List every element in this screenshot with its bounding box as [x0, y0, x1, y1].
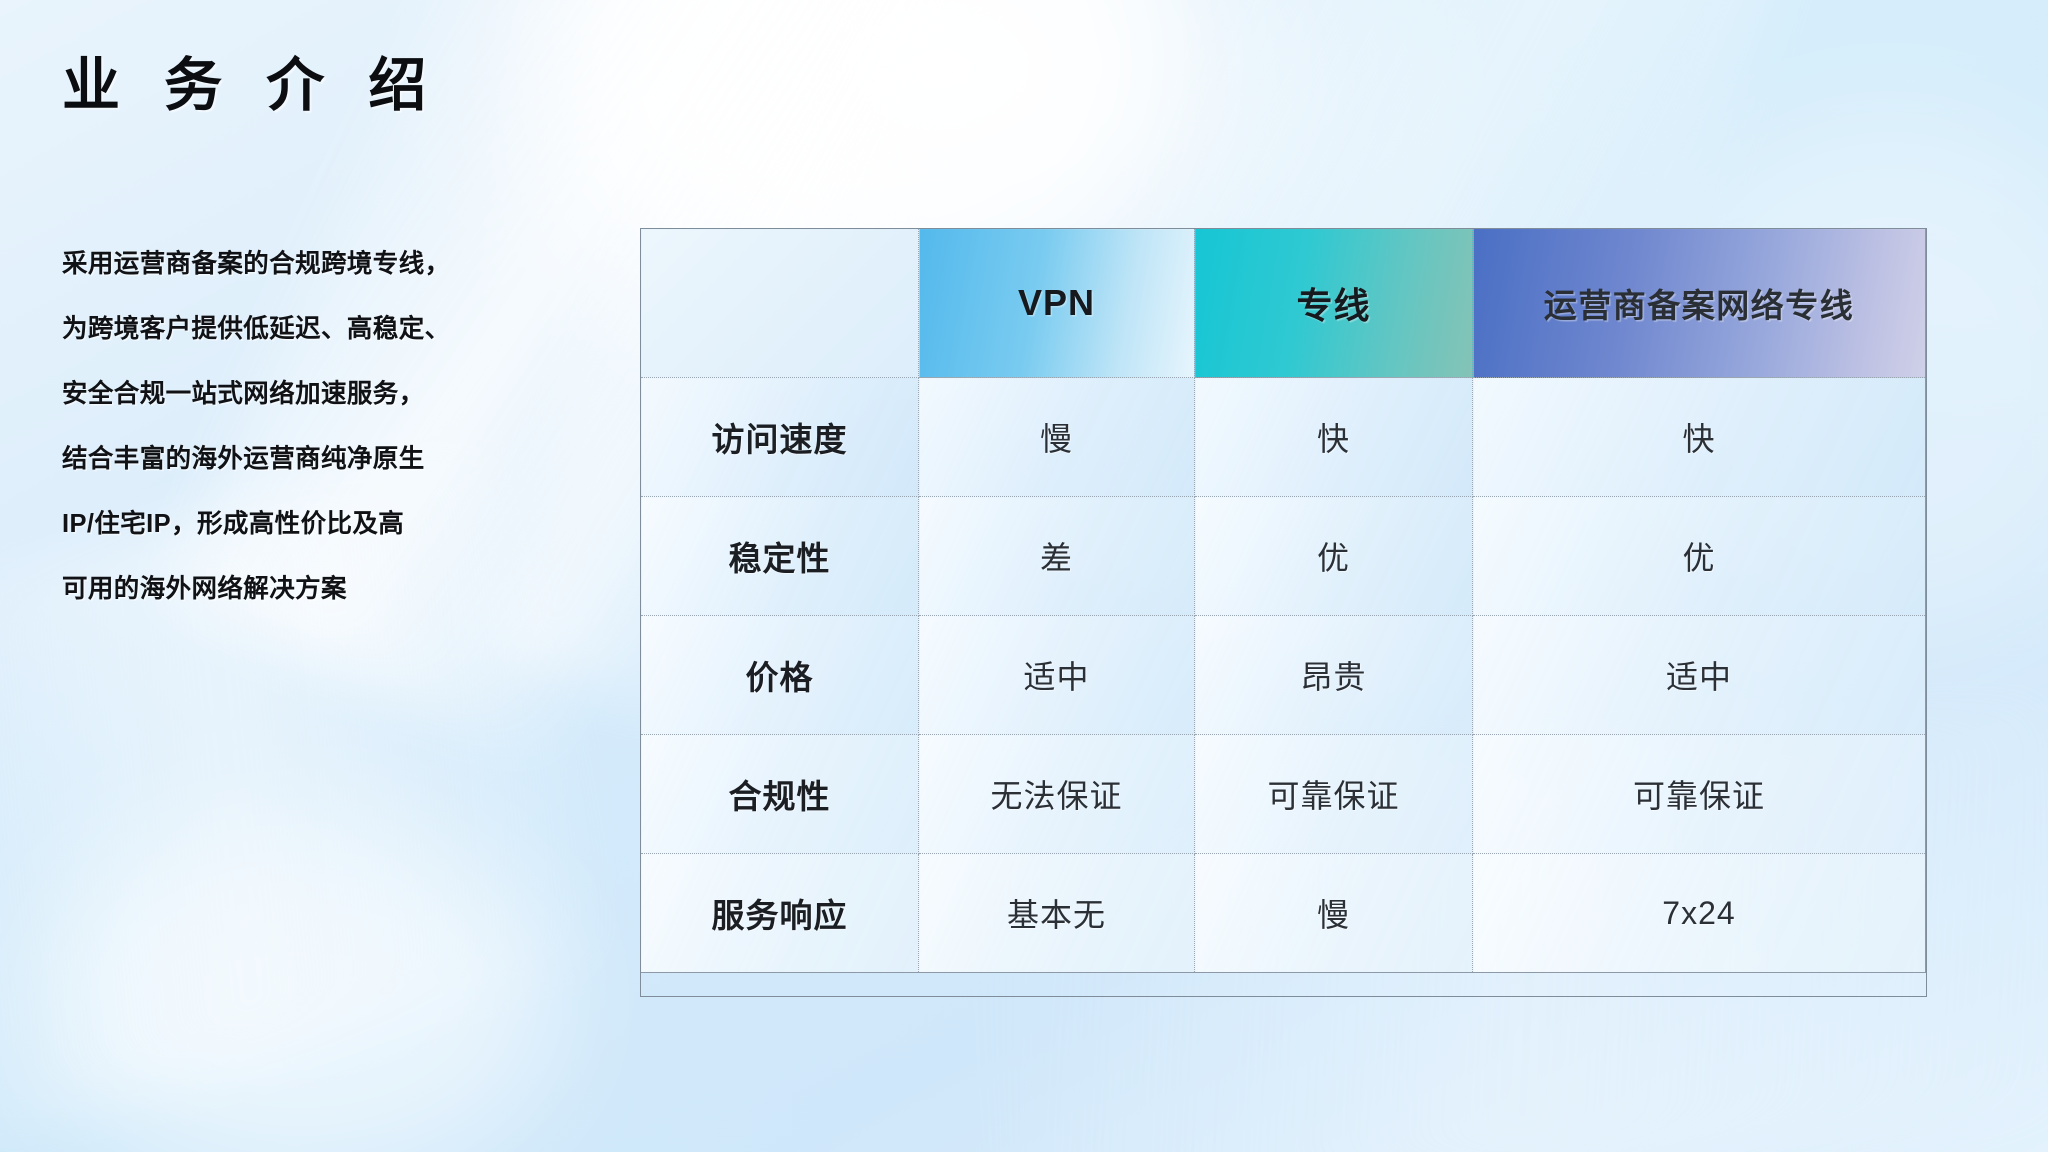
row-value: 可靠保证	[1633, 778, 1765, 814]
row-value-cell-carrier-line: 快	[1473, 378, 1926, 497]
intro-line: 可用的海外网络解决方案	[62, 557, 662, 622]
table-row: 合规性 无法保证 可靠保证 可靠保证	[641, 735, 1926, 854]
row-value-cell-vpn: 无法保证	[919, 735, 1195, 854]
row-value: 慢	[1317, 897, 1350, 933]
intro-line: 结合丰富的海外运营商纯净原生	[62, 427, 662, 492]
table-header-cell-blank	[641, 229, 919, 378]
row-value-cell-dedicated-line: 优	[1195, 497, 1473, 616]
slide-canvas: 业 务 介 绍 采用运营商备案的合规跨境专线， 为跨境客户提供低延迟、高稳定、 …	[0, 0, 2048, 1152]
row-value-cell-dedicated-line: 快	[1195, 378, 1473, 497]
row-value: 昂贵	[1300, 659, 1366, 695]
background-glow	[40, 820, 560, 1152]
row-value: 优	[1682, 540, 1715, 576]
table-header-label-dedicated-line: 专线	[1296, 285, 1370, 326]
intro-line: 安全合规一站式网络加速服务，	[62, 362, 662, 427]
row-value: 7x24	[1662, 895, 1735, 931]
intro-line: 采用运营商备案的合规跨境专线，	[62, 232, 662, 297]
row-label: 价格	[746, 659, 814, 696]
table-header-cell-vpn: VPN	[919, 229, 1195, 378]
row-value: 可靠保证	[1267, 778, 1399, 814]
row-value-cell-carrier-line: 可靠保证	[1473, 735, 1926, 854]
table-header-row: VPN 专线 运营商备案网络专线	[641, 229, 1926, 378]
row-value: 基本无	[1007, 897, 1106, 933]
row-value: 无法保证	[990, 778, 1122, 814]
row-value-cell-vpn: 基本无	[919, 854, 1195, 973]
row-label: 合规性	[729, 778, 831, 815]
row-value-cell-carrier-line: 7x24	[1473, 854, 1926, 973]
comparison-table: VPN 专线 运营商备案网络专线 访问速度 慢 快	[640, 228, 1926, 973]
table-row: 服务响应 基本无 慢 7x24	[641, 854, 1926, 973]
intro-line: 为跨境客户提供低延迟、高稳定、	[62, 297, 662, 362]
table-header-cell-dedicated-line: 专线	[1195, 229, 1473, 378]
table-body: 访问速度 慢 快 快 稳定性 差 优	[641, 378, 1926, 973]
row-label-cell: 价格	[641, 616, 919, 735]
row-value-cell-dedicated-line: 昂贵	[1195, 616, 1473, 735]
row-label: 访问速度	[712, 421, 848, 458]
row-value: 差	[1040, 540, 1073, 576]
row-value-cell-vpn: 差	[919, 497, 1195, 616]
row-value-cell-vpn: 慢	[919, 378, 1195, 497]
row-label-cell: 访问速度	[641, 378, 919, 497]
page-title: 业 务 介 绍	[62, 50, 440, 123]
row-label-cell: 稳定性	[641, 497, 919, 616]
row-label: 服务响应	[712, 897, 848, 934]
row-value-cell-dedicated-line: 可靠保证	[1195, 735, 1473, 854]
row-value-cell-carrier-line: 优	[1473, 497, 1926, 616]
table-row: 访问速度 慢 快 快	[641, 378, 1926, 497]
row-value: 适中	[1023, 659, 1089, 695]
table-row: 价格 适中 昂贵 适中	[641, 616, 1926, 735]
row-value: 慢	[1040, 421, 1073, 457]
table-header-label-carrier-line: 运营商备案网络专线	[1544, 287, 1855, 324]
row-value: 快	[1317, 421, 1350, 457]
row-value: 快	[1682, 421, 1715, 457]
intro-paragraph: 采用运营商备案的合规跨境专线， 为跨境客户提供低延迟、高稳定、 安全合规一站式网…	[62, 232, 662, 622]
row-value: 适中	[1666, 659, 1732, 695]
row-value-cell-carrier-line: 适中	[1473, 616, 1926, 735]
table-header-label-vpn: VPN	[1018, 282, 1095, 323]
row-value: 优	[1317, 540, 1350, 576]
table-row: 稳定性 差 优 优	[641, 497, 1926, 616]
table-header: VPN 专线 运营商备案网络专线	[641, 229, 1926, 378]
row-label-cell: 合规性	[641, 735, 919, 854]
row-value-cell-dedicated-line: 慢	[1195, 854, 1473, 973]
row-label: 稳定性	[729, 540, 831, 577]
table-header-cell-carrier-line: 运营商备案网络专线	[1473, 229, 1926, 378]
intro-line: IP/住宅IP，形成高性价比及高	[62, 492, 662, 557]
row-value-cell-vpn: 适中	[919, 616, 1195, 735]
row-label-cell: 服务响应	[641, 854, 919, 973]
